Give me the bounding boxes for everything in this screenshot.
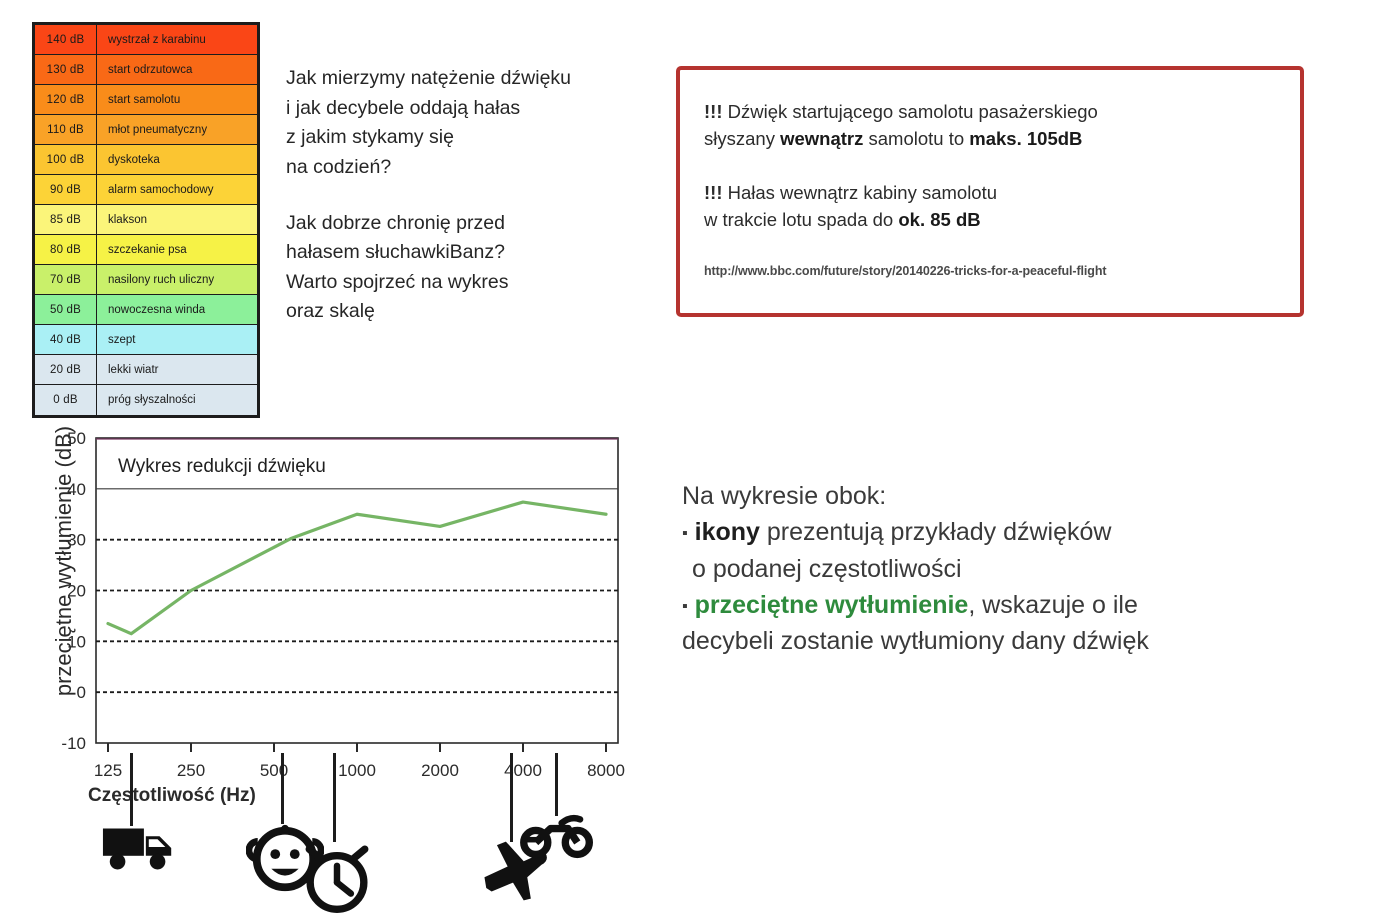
intro-line-3: z jakim stykamy się [286, 123, 656, 153]
note-line-1-text: Dźwięk startującego samolotu pasażerskie… [722, 101, 1097, 122]
warning-note-box: !!! Dźwięk startującego samolotu pasażer… [676, 66, 1304, 317]
db-level-value: 50 dB [35, 295, 97, 324]
legend-item-1-cont: o podanej częstotliwości [682, 551, 1292, 587]
note-line-2-bold-max: maks. 105dB [969, 128, 1082, 149]
intro-line-1: Jak mierzymy natężenie dźwięku [286, 64, 656, 94]
db-source-label: szept [97, 325, 257, 354]
db-table-row: 85 dBklakson [35, 205, 257, 235]
chart-x-tick-label: 250 [177, 761, 205, 778]
db-source-label: alarm samochodowy [97, 175, 257, 204]
brand-name: Banz [450, 241, 494, 263]
db-level-value: 20 dB [35, 355, 97, 384]
db-table-row: 90 dBalarm samochodowy [35, 175, 257, 205]
db-level-value: 110 dB [35, 115, 97, 144]
source-url-link[interactable]: http://www.bbc.com/future/story/20140226… [704, 264, 1300, 278]
bullet-icon-2: ▪ [682, 598, 688, 615]
chart-y-tick-label: 50 [67, 429, 86, 448]
note-line-2-bold-inside: wewnątrz [780, 128, 863, 149]
db-source-label: klakson [97, 205, 257, 234]
legend-item-2-cont: decybeli zostanie wytłumiony dany dźwięk [682, 623, 1292, 659]
db-table-row: 100 dBdyskoteka [35, 145, 257, 175]
note-box-inner: !!! Dźwięk startującego samolotu pasażer… [680, 70, 1300, 278]
db-table-row: 50 dBnowoczesna winda [35, 295, 257, 325]
intro-question-line-3: Warto spojrzeć na wykres [286, 268, 656, 298]
intro-spacer [286, 183, 656, 209]
db-level-value: 90 dB [35, 175, 97, 204]
db-source-label: start samolotu [97, 85, 257, 114]
db-level-value: 100 dB [35, 145, 97, 174]
db-level-value: 80 dB [35, 235, 97, 264]
sound-reduction-chart: przeciętne wytłumienie (dB) Wykres reduk… [18, 428, 638, 778]
chart-x-axis-title: Częstotliwość (Hz) [88, 785, 256, 807]
legend-item-2: ▪ przeciętne wytłumienie, wskazuje o ile [682, 587, 1292, 623]
db-source-label: próg słyszalności [97, 385, 257, 415]
db-level-value: 130 dB [35, 55, 97, 84]
db-source-label: szczekanie psa [97, 235, 257, 264]
chart-y-tick-label: -10 [61, 734, 86, 753]
db-source-label: dyskoteka [97, 145, 257, 174]
db-table-row: 20 dBlekki wiatr [35, 355, 257, 385]
intro-line-2: i jak decybele oddają hałas [286, 94, 656, 124]
legend-item-2-bold: przeciętne wytłumienie [695, 591, 969, 619]
intro-line-4: na codzień? [286, 153, 656, 183]
chart-description-block: Na wykresie obok: ▪ ikony prezentują prz… [682, 478, 1292, 659]
legend-item-2-rest: , wskazuje o ile [968, 591, 1138, 619]
db-table-row: 40 dBszept [35, 325, 257, 355]
decibel-scale-table: 140 dBwystrzał z karabinu130 dBstart odr… [32, 22, 260, 418]
chart-y-tick-label: 30 [67, 531, 86, 550]
db-table-row: 70 dBnasilony ruch uliczny [35, 265, 257, 295]
note-line-3-text: Hałas wewnątrz kabiny samolotu [722, 182, 997, 203]
chart-x-tick-label: 125 [94, 761, 122, 778]
db-table-row: 110 dBmłot pneumatyczny [35, 115, 257, 145]
db-table-row: 140 dBwystrzał z karabinu [35, 25, 257, 55]
truck-icon [101, 822, 179, 879]
icon-leader-line [555, 753, 558, 816]
intro-text-block: Jak mierzymy natężenie dźwięku i jak dec… [286, 64, 656, 327]
db-source-label: wystrzał z karabinu [97, 25, 257, 54]
icon-leader-line [510, 753, 513, 842]
icon-leader-line [130, 753, 133, 826]
db-level-value: 40 dB [35, 325, 97, 354]
db-table-row: 130 dBstart odrzutowca [35, 55, 257, 85]
intro-q2-mark: ? [494, 241, 505, 263]
chart-x-tick-label: 2000 [421, 761, 459, 778]
db-level-value: 140 dB [35, 25, 97, 54]
note-line-2: słyszany wewnątrz samolotu to maks. 105d… [704, 125, 1300, 152]
exclamation-marks-2: !!! [704, 182, 722, 203]
note-line-4-bold: ok. 85 dB [898, 209, 980, 230]
motorcycle-icon [520, 812, 594, 865]
db-level-value: 120 dB [35, 85, 97, 114]
note-line-2-a: słyszany [704, 128, 780, 149]
db-table-row: 80 dBszczekanie psa [35, 235, 257, 265]
legend-heading: Na wykresie obok: [682, 478, 1292, 514]
exclamation-marks-1: !!! [704, 101, 722, 122]
icon-leader-line [333, 753, 336, 842]
chart-x-tick-label: 1000 [338, 761, 376, 778]
db-table-row: 120 dBstart samolotu [35, 85, 257, 115]
bullet-icon-1: ▪ [682, 525, 688, 542]
note-line-2-b: samolotu to [863, 128, 969, 149]
db-level-value: 85 dB [35, 205, 97, 234]
alarm-clock-icon [300, 838, 374, 919]
note-line-3: !!! Hałas wewnątrz kabiny samolotu [704, 179, 1300, 206]
note-line-4: w trakcie lotu spada do ok. 85 dB [704, 206, 1300, 233]
note-box-spacer [704, 153, 1300, 179]
db-level-value: 70 dB [35, 265, 97, 294]
legend-item-1-bold: ikony [695, 518, 760, 546]
db-source-label: nasilony ruch uliczny [97, 265, 257, 294]
chart-title: Wykres redukcji dźwięku [118, 456, 326, 477]
icon-leader-line [281, 753, 284, 824]
db-source-label: młot pneumatyczny [97, 115, 257, 144]
chart-svg: Wykres redukcji dźwięku50403020100-10125… [18, 428, 638, 778]
intro-question-line-4: oraz skalę [286, 297, 656, 327]
chart-y-tick-label: 10 [67, 632, 86, 651]
chart-y-tick-label: 40 [67, 480, 86, 499]
chart-x-tick-label: 8000 [587, 761, 625, 778]
note-line-1: !!! Dźwięk startującego samolotu pasażer… [704, 98, 1300, 125]
legend-item-1: ▪ ikony prezentują przykłady dźwięków [682, 514, 1292, 550]
intro-question-line-2: hałasem słuchawkiBanz? [286, 238, 656, 268]
db-source-label: lekki wiatr [97, 355, 257, 384]
intro-question-line-1: Jak dobrze chronię przed [286, 209, 656, 239]
chart-y-tick-label: 20 [67, 582, 86, 601]
legend-item-1-rest: prezentują przykłady dźwięków [760, 518, 1112, 546]
note-line-4-a: w trakcie lotu spada do [704, 209, 898, 230]
db-source-label: nowoczesna winda [97, 295, 257, 324]
db-source-label: start odrzutowca [97, 55, 257, 84]
intro-q2-text: hałasem słuchawki [286, 241, 450, 263]
chart-y-tick-label: 0 [77, 683, 86, 702]
